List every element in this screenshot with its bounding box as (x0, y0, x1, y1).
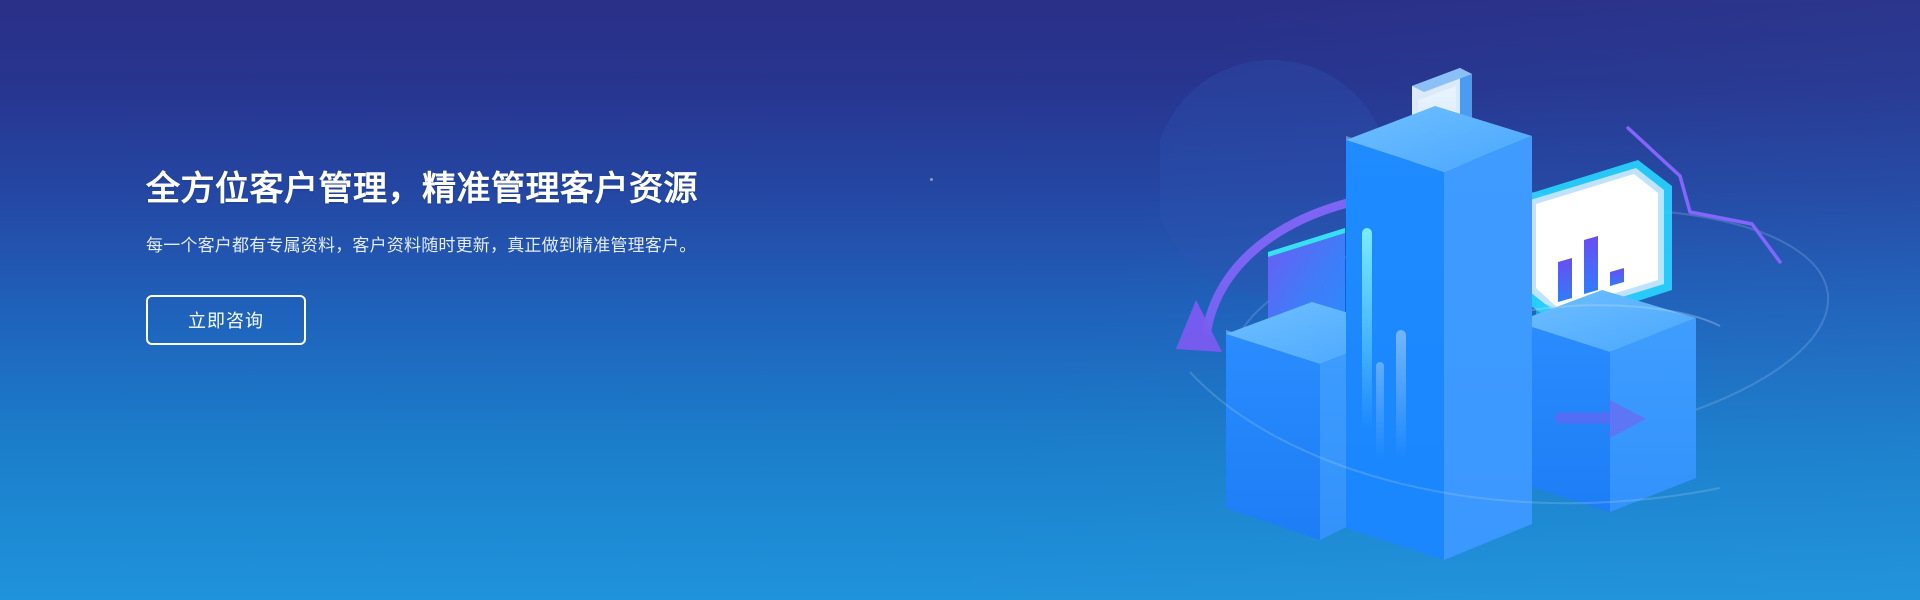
page-title: 全方位客户管理，精准管理客户资源 (146, 168, 786, 211)
hero-banner: 全方位客户管理，精准管理客户资源 每一个客户都有专属资料，客户资料随时更新，真正… (0, 0, 1920, 600)
right-pillar (1516, 160, 1696, 512)
consult-now-button[interactable]: 立即咨询 (146, 295, 306, 345)
decorative-speck (930, 178, 933, 181)
hero-subtext: 每一个客户都有专属资料，客户资料随时更新，真正做到精准管理客户。 (146, 233, 736, 260)
hero-illustration (1160, 0, 1920, 600)
hero-copy-block: 全方位客户管理，精准管理客户资源 每一个客户都有专属资料，客户资料随时更新，真正… (146, 168, 786, 345)
